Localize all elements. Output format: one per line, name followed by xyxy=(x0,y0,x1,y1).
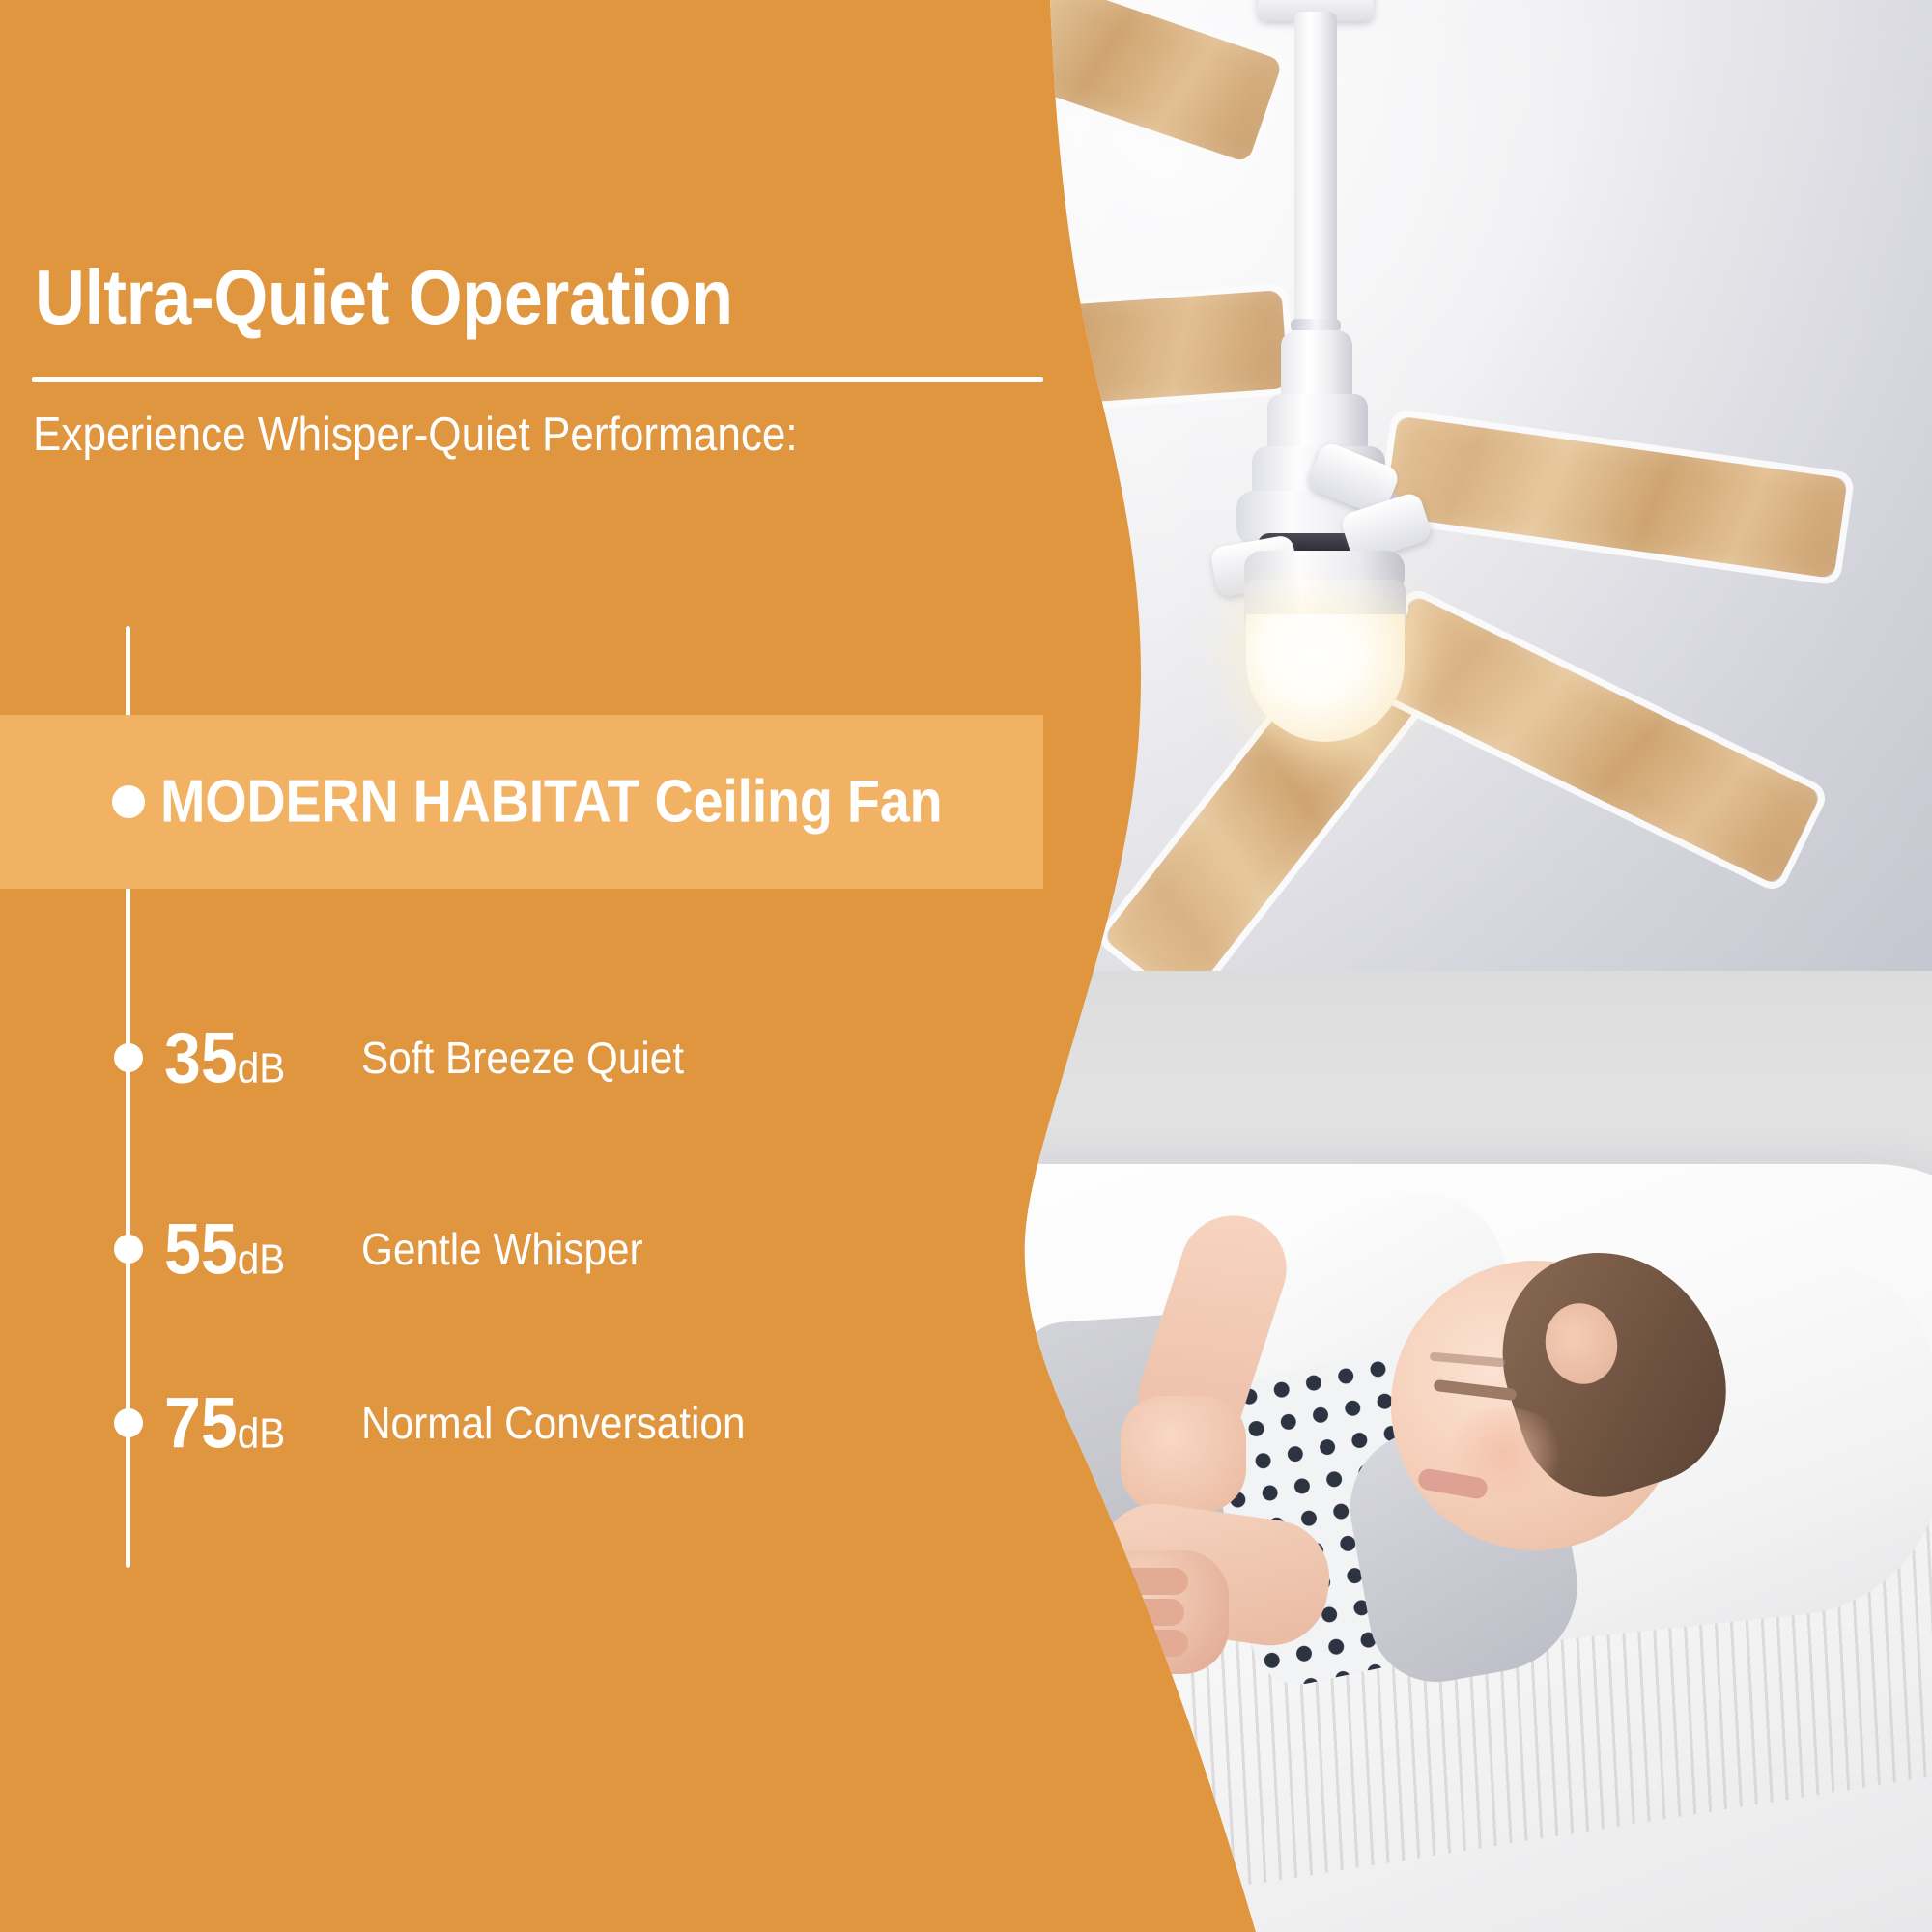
noise-value-group: 35dB xyxy=(164,1017,285,1099)
noise-unit: dB xyxy=(238,1410,286,1458)
baby-finger xyxy=(1080,1630,1188,1657)
baby-finger xyxy=(1076,1599,1184,1626)
title-divider xyxy=(32,377,1043,382)
noise-unit: dB xyxy=(238,1236,286,1284)
noise-description: Normal Conversation xyxy=(361,1397,745,1449)
fan-blade xyxy=(1384,416,1848,579)
featured-product-row[interactable]: MODERN HABITAT Ceiling Fan xyxy=(0,749,1043,855)
page-title: Ultra-Quiet Operation xyxy=(35,253,904,342)
noise-value: 75 xyxy=(164,1383,238,1463)
timeline-dot-icon xyxy=(114,1043,143,1072)
noise-description: Gentle Whisper xyxy=(361,1223,643,1275)
timeline-dot-icon xyxy=(114,1235,143,1264)
ceiling-fan-illustration xyxy=(1005,0,1932,971)
noise-level-row[interactable]: 75dB Normal Conversation xyxy=(0,1370,1043,1476)
noise-value: 35 xyxy=(164,1018,238,1098)
ceiling-fan-photo xyxy=(1005,0,1932,971)
noise-description: Soft Breeze Quiet xyxy=(361,1032,684,1084)
page-subtitle: Experience Whisper-Quiet Performance: xyxy=(33,408,920,462)
content-panel: Ultra-Quiet Operation Experience Whisper… xyxy=(0,0,1063,1932)
noise-value: 55 xyxy=(164,1209,238,1290)
featured-product-label: MODERN HABITAT Ceiling Fan xyxy=(160,768,942,837)
sleeping-baby-photo xyxy=(1005,971,1932,1932)
promo-banner: Ultra-Quiet Operation Experience Whisper… xyxy=(0,0,1932,1932)
noise-value-group: 55dB xyxy=(164,1208,285,1291)
baby-hand xyxy=(1121,1396,1246,1512)
noise-unit: dB xyxy=(238,1045,286,1093)
timeline-dot-icon xyxy=(114,1408,143,1437)
baby-finger xyxy=(1080,1568,1188,1595)
fan-downrod xyxy=(1294,12,1337,330)
noise-value-group: 75dB xyxy=(164,1382,285,1464)
noise-level-row[interactable]: 55dB Gentle Whisper xyxy=(0,1196,1043,1302)
noise-level-row[interactable]: 35dB Soft Breeze Quiet xyxy=(0,1005,1043,1111)
fan-blade xyxy=(1369,594,1822,885)
timeline-dot-icon xyxy=(112,785,145,818)
